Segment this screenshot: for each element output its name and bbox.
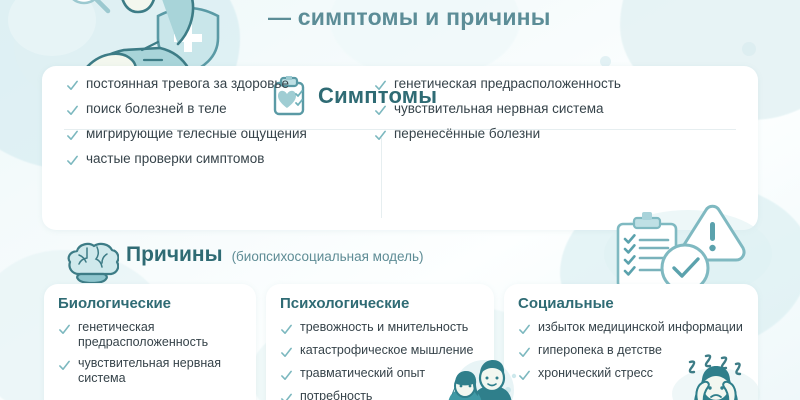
list-item-label: хронический стресс xyxy=(538,366,653,381)
list-item-label: перенесённые болезни xyxy=(394,126,540,142)
list-item-label: постоянная тревога за здоровье xyxy=(86,76,289,92)
list-item-label: поиск болезней в теле xyxy=(86,101,227,117)
list-item-label: генетическая предрасположенность xyxy=(394,76,621,92)
symptoms-column-divider xyxy=(381,138,382,218)
causes-heading: Причины xyxy=(126,243,223,267)
clipboard-warning-check-illustration xyxy=(600,198,780,298)
causes-header: Причины (биопсихосоциальная модель) xyxy=(66,243,424,267)
list-item: тревожность и мнительность xyxy=(280,320,484,336)
list-item-label: гиперопека в детстве xyxy=(538,343,662,358)
list-item: поиск болезней в теле xyxy=(66,101,334,117)
column-title: Биологические xyxy=(58,295,246,312)
check-icon xyxy=(280,323,293,336)
check-icon xyxy=(66,129,79,142)
list-item: чувствительная нервная система xyxy=(58,356,246,385)
list-item: постоянная тревога за здоровье xyxy=(66,76,334,92)
background-dot xyxy=(742,42,756,56)
list-item: избыток медицинской информации xyxy=(518,320,748,336)
symptoms-right-list: генетическая предрасположенность чувстви… xyxy=(374,76,674,142)
list-item-label: чувствительная нервная система xyxy=(394,101,604,117)
list-item-label: тревожность и мнительность xyxy=(300,320,468,335)
list-item: генетическая предрасположенность xyxy=(374,76,674,92)
list-item-label: частые проверки симптомов xyxy=(86,151,264,167)
list-item-label: генетическая предрасположенность xyxy=(78,320,246,349)
causes-subheading: (биопсихосоциальная модель) xyxy=(232,249,424,264)
list-item-label: чувствительная нервная система xyxy=(78,356,246,385)
check-icon xyxy=(58,323,71,336)
list-item: мигрирующие телесные ощущения xyxy=(66,126,334,142)
column-title: Психологические xyxy=(280,295,484,312)
brain-icon xyxy=(65,241,119,283)
check-icon xyxy=(374,79,387,92)
page-title: — симптомы и причины xyxy=(268,4,768,34)
check-icon xyxy=(58,359,71,372)
stressed-woman-illustration xyxy=(664,348,760,400)
check-icon xyxy=(66,154,79,167)
causes-column-biological: Биологические генетическая предрасположе… xyxy=(44,284,256,400)
symptoms-left-list: постоянная тревога за здоровье поиск бол… xyxy=(66,76,334,167)
check-icon xyxy=(280,392,293,400)
list-item-label: избыток медицинской информации xyxy=(538,320,743,335)
list-item-label: травматический опыт xyxy=(300,366,425,381)
check-icon xyxy=(374,129,387,142)
check-icon xyxy=(66,104,79,117)
check-icon xyxy=(280,369,293,382)
list-item-label: потребность xyxy=(300,389,372,400)
infographic-canvas: — симптомы и причины Симптомы постоянная… xyxy=(0,0,800,400)
list-item: частые проверки симптомов xyxy=(66,151,334,167)
column-title: Социальные xyxy=(518,295,748,312)
list-item-label: мигрирующие телесные ощущения xyxy=(86,126,307,142)
list-item: чувствительная нервная система xyxy=(374,101,674,117)
check-icon xyxy=(280,346,293,359)
check-icon xyxy=(66,79,79,92)
list-item: перенесённые болезни xyxy=(374,126,674,142)
check-icon xyxy=(374,104,387,117)
couple-illustration xyxy=(428,356,536,400)
check-icon xyxy=(518,323,531,336)
list-item: генетическая предрасположенность xyxy=(58,320,246,349)
